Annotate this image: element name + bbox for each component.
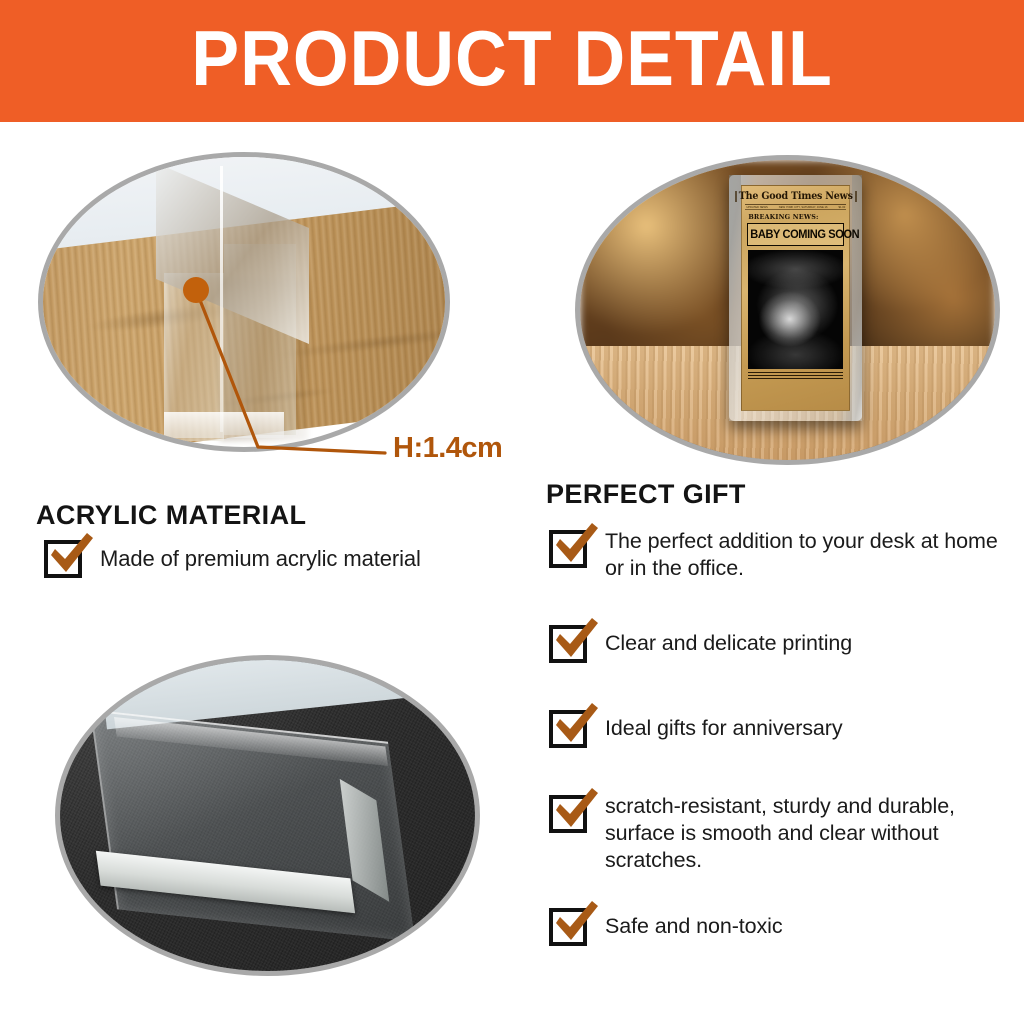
photo-inner xyxy=(60,660,475,971)
product-detail-infographic: PRODUCT DETAIL H:1.4cm xyxy=(0,0,1024,1024)
section-title-perfect-gift: PERFECT GIFT xyxy=(546,479,746,510)
check-glyph xyxy=(548,518,602,572)
section-title-acrylic-material: ACRYLIC MATERIAL xyxy=(36,500,306,531)
list-item: The perfect addition to your desk at hom… xyxy=(549,530,1001,582)
checkmark-icon xyxy=(549,795,587,833)
checkmark-icon xyxy=(549,625,587,663)
checkmark-icon xyxy=(549,710,587,748)
check-glyph xyxy=(548,896,602,950)
photo-acrylic-slab-on-slate xyxy=(55,655,480,976)
list-item: Ideal gifts for anniversary xyxy=(549,710,1001,748)
plaque-right-edge xyxy=(852,175,863,421)
masthead-right-box: Page 1 Sunday edition xyxy=(855,191,857,202)
masthead-left-box: Saturday Late City Final xyxy=(735,191,737,202)
list-item-label: Safe and non-toxic xyxy=(605,913,783,940)
list-item-label: scratch-resistant, sturdy and durable, s… xyxy=(605,793,1009,874)
check-glyph xyxy=(548,613,602,667)
checkmark-icon xyxy=(549,908,587,946)
photo-inner xyxy=(43,157,445,447)
newspaper-masthead: Saturday Late City Final The Good Times … xyxy=(745,189,846,205)
checkmark-icon xyxy=(549,530,587,568)
photo-acrylic-block-on-wood xyxy=(38,152,450,452)
page-title: PRODUCT DETAIL xyxy=(41,0,983,122)
checkmark-icon xyxy=(44,540,82,578)
list-item-label: Clear and delicate printing xyxy=(605,630,852,657)
check-glyph xyxy=(548,698,602,752)
photo-newspaper-plaque: Saturday Late City Final The Good Times … xyxy=(575,155,1000,465)
list-item-label: Made of premium acrylic material xyxy=(100,545,421,572)
masthead-title: The Good Times News xyxy=(739,190,853,202)
dateline-right: $1.00 xyxy=(838,206,845,209)
dateline-center: NEW YORK CITY, SATURDAY, JUNE 16 xyxy=(779,206,828,209)
list-item: Made of premium acrylic material xyxy=(44,540,514,578)
ultrasound-photo xyxy=(748,250,843,370)
block-edge-highlight xyxy=(220,166,223,433)
dateline-left: UPDATED NEWS xyxy=(746,206,767,209)
newspaper-dateline: UPDATED NEWS NEW YORK CITY, SATURDAY, JU… xyxy=(745,205,846,210)
acrylic-plaque: Saturday Late City Final The Good Times … xyxy=(729,175,862,421)
photo-inner: Saturday Late City Final The Good Times … xyxy=(580,160,995,460)
list-item: Safe and non-toxic xyxy=(549,908,1001,946)
check-glyph xyxy=(548,783,602,837)
newspaper-headline: BABY COMING SOON xyxy=(751,229,860,241)
plaque-left-edge xyxy=(729,175,741,421)
check-glyph xyxy=(43,528,97,582)
newspaper-footer-rules xyxy=(748,372,843,378)
height-callout-label: H:1.4cm xyxy=(393,432,502,465)
newspaper-kicker: BREAKING NEWS: xyxy=(748,213,846,221)
newspaper-print: Saturday Late City Final The Good Times … xyxy=(741,185,850,411)
list-item-label: Ideal gifts for anniversary xyxy=(605,715,843,742)
list-item: scratch-resistant, sturdy and durable, s… xyxy=(549,795,1009,874)
newspaper-headline-box: BABY COMING SOON xyxy=(747,223,844,246)
block-bottom-highlight xyxy=(164,412,285,438)
list-item: Clear and delicate printing xyxy=(549,625,1001,663)
list-item-label: The perfect addition to your desk at hom… xyxy=(605,528,1001,582)
callout-dot-icon xyxy=(183,277,209,303)
